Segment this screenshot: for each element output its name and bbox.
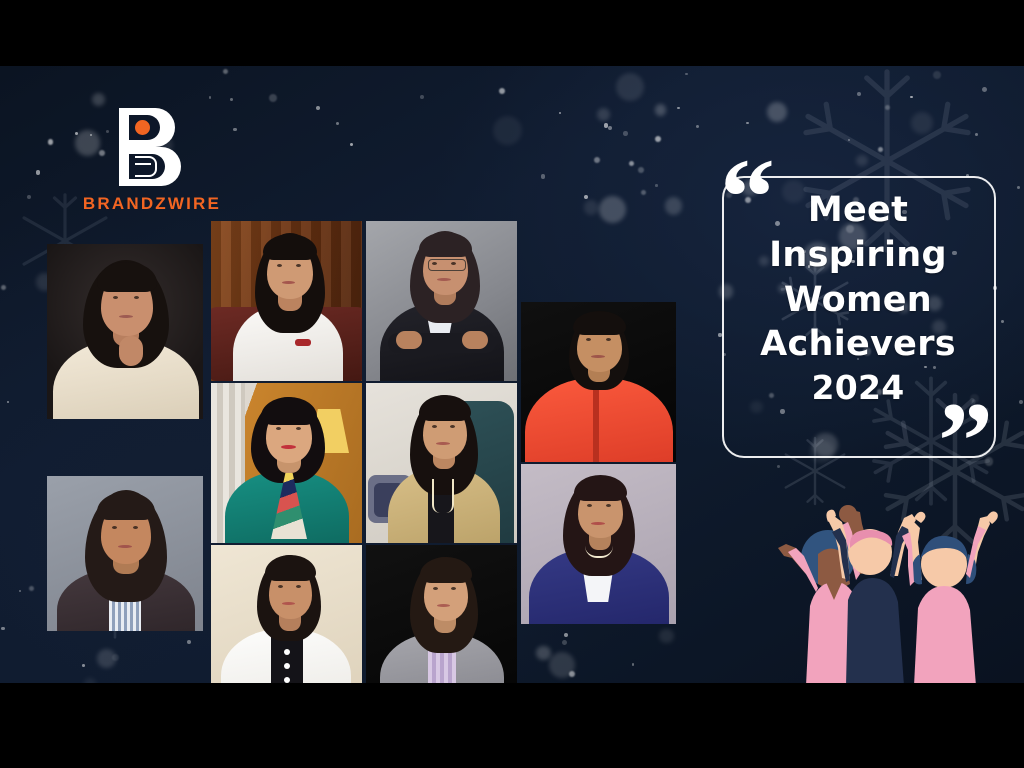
bokeh-dot	[1001, 320, 1004, 323]
bokeh-dot	[608, 126, 612, 130]
photo-achiever-10	[521, 464, 676, 624]
bokeh-dot	[1, 627, 4, 630]
bokeh-dot	[616, 73, 644, 101]
bokeh-dot	[569, 671, 575, 677]
bokeh-dot	[767, 102, 787, 122]
headline-line-4: Achievers	[730, 322, 986, 367]
bokeh-dot	[599, 196, 626, 223]
bokeh-dot	[594, 157, 600, 163]
bokeh-dot	[420, 95, 424, 99]
poster-stage: BRANDZWIRE	[0, 0, 1024, 768]
headline-text: Meet Inspiring Women Achievers 2024	[730, 188, 986, 409]
bokeh-dot	[641, 190, 646, 195]
bokeh-dot	[112, 654, 119, 661]
poster-canvas: BRANDZWIRE	[0, 66, 1024, 683]
bokeh-dot	[493, 116, 523, 146]
letterbox-top	[0, 0, 1024, 66]
bokeh-dot	[350, 143, 353, 146]
bokeh-dot	[536, 646, 551, 661]
bokeh-dot	[82, 664, 85, 667]
headline-year: 2024	[730, 367, 986, 409]
bokeh-dot	[597, 108, 610, 121]
three-women-cheering-illustration	[700, 496, 1024, 683]
bokeh-dot	[562, 640, 567, 645]
bokeh-dot	[655, 104, 667, 116]
photo-achiever-7	[211, 545, 362, 683]
photo-achiever-4	[366, 221, 517, 381]
brand-name: BRANDZWIRE	[72, 194, 232, 214]
bokeh-dot	[659, 629, 674, 644]
bokeh-dot	[209, 96, 212, 99]
figure-right	[902, 511, 998, 683]
bokeh-dot	[541, 174, 546, 179]
photo-achiever-1	[47, 244, 203, 419]
bokeh-dot	[233, 128, 237, 132]
bokeh-dot	[632, 663, 634, 665]
photo-achiever-8	[366, 545, 517, 683]
photo-achiever-2	[47, 476, 203, 631]
photo-achiever-3	[211, 221, 362, 381]
bokeh-dot	[584, 200, 599, 215]
bokeh-dot	[1017, 186, 1020, 189]
bokeh-dot	[655, 136, 661, 142]
bokeh-dot	[559, 112, 561, 114]
headline-quote-panel: “ ” Meet Inspiring Women Achievers 2024	[716, 166, 1000, 466]
bokeh-dot	[655, 184, 658, 187]
bokeh-dot	[36, 170, 41, 175]
photo-achiever-5	[211, 383, 362, 543]
bokeh-dot	[665, 197, 683, 215]
headline-line-1: Meet	[730, 188, 986, 233]
brandzwire-b-logo-icon	[109, 108, 195, 186]
bokeh-dot	[19, 590, 21, 592]
bokeh-dot	[623, 131, 628, 136]
bokeh-dot	[584, 195, 588, 199]
headline-line-2: Inspiring	[730, 233, 986, 278]
bokeh-dot	[336, 122, 340, 126]
bokeh-dot	[316, 106, 320, 110]
close-quote-icon: ”	[938, 402, 993, 481]
bokeh-dot	[223, 69, 228, 74]
bokeh-dot	[269, 94, 277, 102]
bokeh-dot	[638, 167, 644, 173]
photo-achiever-6	[366, 383, 517, 543]
bokeh-dot	[746, 122, 749, 125]
bokeh-dot	[564, 633, 568, 637]
bokeh-dot	[629, 161, 635, 167]
bokeh-dot	[29, 586, 34, 591]
bokeh-dot	[677, 107, 679, 109]
bokeh-dot	[499, 88, 505, 94]
photo-achiever-9	[521, 302, 676, 462]
bokeh-dot	[1, 285, 6, 290]
bokeh-dot	[230, 98, 233, 101]
bokeh-dot	[685, 73, 688, 76]
headline-line-3: Women	[730, 278, 986, 323]
bokeh-dot	[187, 640, 191, 644]
bokeh-dot	[92, 93, 105, 106]
bokeh-dot	[48, 139, 53, 144]
brandzwire-logo: BRANDZWIRE	[72, 108, 232, 214]
bokeh-dot	[7, 401, 9, 403]
letterbox-bottom	[0, 683, 1024, 768]
bokeh-dot	[696, 125, 699, 128]
